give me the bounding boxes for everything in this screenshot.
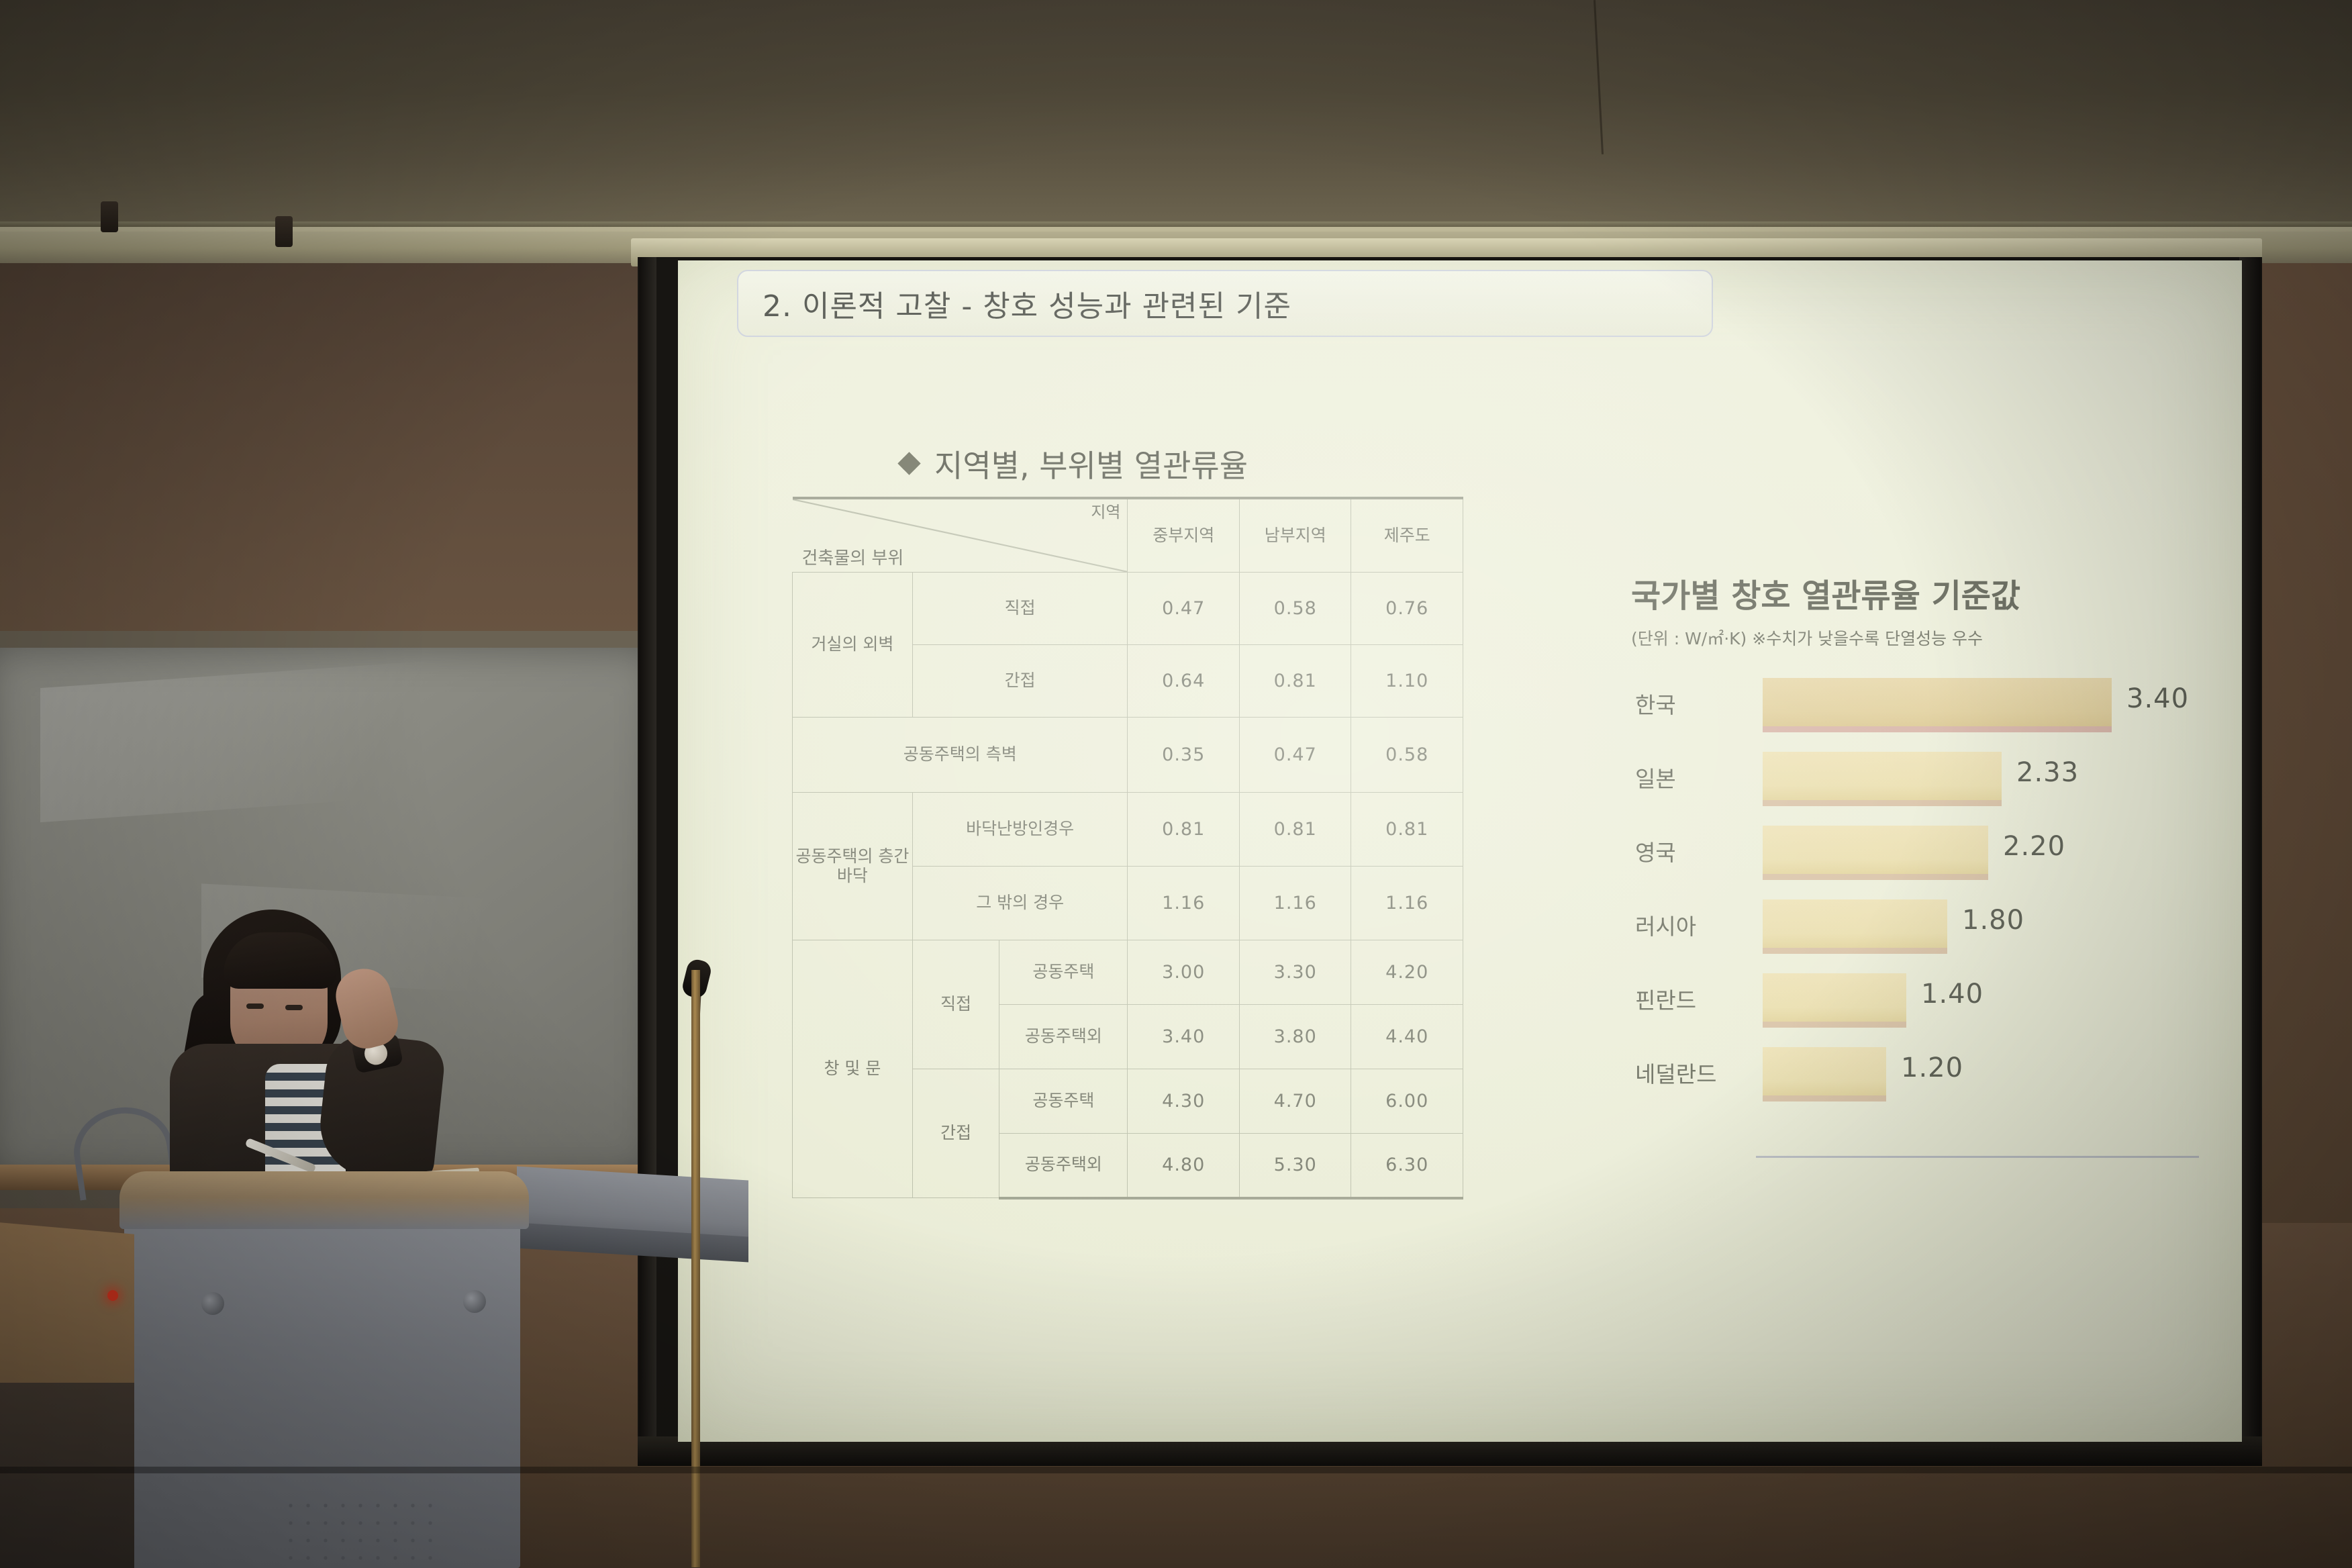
chart-bar-label: 네덜란드 bbox=[1631, 1057, 1763, 1089]
chart-bar-row: 러시아1.80 bbox=[1631, 894, 2208, 956]
row-group-apartment-side-wall: 공동주택의 측벽 bbox=[793, 718, 1128, 793]
cell-value: 1.16 bbox=[1128, 867, 1240, 940]
column-header-jeju: 제주도 bbox=[1351, 498, 1463, 573]
table-row: 공동주택의 층간바닥 바닥난방인경우 0.81 0.81 0.81 bbox=[793, 793, 1463, 867]
column-header-southern: 남부지역 bbox=[1239, 498, 1351, 573]
cell-value: 0.81 bbox=[1239, 645, 1351, 718]
diamond-bullet-icon bbox=[899, 454, 920, 474]
presenter-bangs bbox=[224, 932, 336, 989]
row-sub2-non-apartment: 공동주택외 bbox=[999, 1005, 1128, 1069]
ceiling-lamp-icon bbox=[101, 201, 118, 232]
cell-value: 1.10 bbox=[1351, 645, 1463, 718]
column-header-central: 중부지역 bbox=[1128, 498, 1240, 573]
chart-bar-value: 3.40 bbox=[2126, 683, 2189, 714]
chart-bar-track: 1.20 bbox=[1763, 1042, 2208, 1104]
cell-value: 0.81 bbox=[1351, 793, 1463, 867]
chart-bar-track: 2.33 bbox=[1763, 746, 2208, 808]
row-sub2-apartment: 공동주택 bbox=[999, 1069, 1128, 1134]
floor-shadow-line bbox=[0, 1467, 2352, 1473]
row-sub2-non-apartment: 공동주택외 bbox=[999, 1134, 1128, 1198]
chart-bar-value: 2.33 bbox=[2016, 757, 2079, 788]
chart-bar-track: 1.80 bbox=[1763, 894, 2208, 956]
cell-value: 5.30 bbox=[1239, 1134, 1351, 1198]
podium-speaker-grille bbox=[282, 1497, 443, 1564]
table-row: 공동주택의 측벽 0.35 0.47 0.58 bbox=[793, 718, 1463, 793]
cell-value: 0.47 bbox=[1128, 573, 1240, 645]
cell-value: 0.81 bbox=[1239, 793, 1351, 867]
u-value-table-wrapper: 지역 건축물의 부위 중부지역 남부지역 제주도 거실의 외벽 직접 0.47 … bbox=[792, 497, 1463, 1199]
ceiling-lamp-icon bbox=[275, 216, 293, 247]
chart-title: 국가별 창호 열관류율 기준값 bbox=[1631, 569, 2208, 616]
chart-bar bbox=[1763, 899, 1947, 954]
microphone-stand bbox=[691, 970, 700, 1567]
slide-title-bar: 2. 이론적 고찰 - 창호 성능과 관련된 기준 bbox=[737, 270, 1713, 337]
chart-bar bbox=[1763, 826, 1988, 880]
chart-bar-value: 1.40 bbox=[1921, 979, 1983, 1010]
u-value-table: 지역 건축물의 부위 중부지역 남부지역 제주도 거실의 외벽 직접 0.47 … bbox=[792, 497, 1463, 1199]
cell-value: 0.35 bbox=[1128, 718, 1240, 793]
section-heading: 지역별, 부위별 열관류율 bbox=[899, 442, 1248, 486]
row-sub-direct: 직접 bbox=[912, 573, 1128, 645]
country-u-value-chart: 국가별 창호 열관류율 기준값 (단위 : W/㎡·K) ※수치가 낮을수록 단… bbox=[1631, 569, 2208, 1116]
row-sub-indirect: 간접 bbox=[912, 1069, 999, 1198]
cell-value: 1.16 bbox=[1351, 867, 1463, 940]
cell-value: 6.00 bbox=[1351, 1069, 1463, 1134]
chart-bar bbox=[1763, 1047, 1886, 1101]
cell-value: 4.70 bbox=[1239, 1069, 1351, 1134]
projected-slide: 2. 이론적 고찰 - 창호 성능과 관련된 기준 지역별, 부위별 열관류율 … bbox=[678, 260, 2242, 1442]
chart-bar-track: 1.40 bbox=[1763, 968, 2208, 1030]
chart-bar-label: 영국 bbox=[1631, 835, 1763, 867]
back-wall-upper-shadow bbox=[0, 263, 658, 639]
row-group-windows-doors: 창 및 문 bbox=[793, 940, 913, 1198]
presenter-eye bbox=[285, 1005, 303, 1010]
chart-bar-value: 1.80 bbox=[1962, 905, 2024, 936]
desk-left-shadow bbox=[0, 1383, 134, 1568]
chart-bar-row: 한국3.40 bbox=[1631, 673, 2208, 734]
presenter bbox=[151, 910, 467, 1205]
cell-value: 1.16 bbox=[1239, 867, 1351, 940]
chart-bar-label: 일본 bbox=[1631, 761, 1763, 793]
chart-bar-value: 1.20 bbox=[1901, 1052, 1963, 1083]
row-sub-direct: 직접 bbox=[912, 940, 999, 1069]
power-led-indicator bbox=[107, 1290, 118, 1301]
row-sub-other-case: 그 밖의 경우 bbox=[912, 867, 1128, 940]
row-sub2-apartment: 공동주택 bbox=[999, 940, 1128, 1005]
lecture-hall-photo: 2. 이론적 고찰 - 창호 성능과 관련된 기준 지역별, 부위별 열관류율 … bbox=[0, 0, 2352, 1568]
cell-value: 0.76 bbox=[1351, 573, 1463, 645]
table-corner-label-part: 건축물의 부위 bbox=[802, 549, 904, 569]
cell-value: 0.47 bbox=[1239, 718, 1351, 793]
chart-bar-label: 러시아 bbox=[1631, 909, 1763, 941]
chart-bars: 한국3.40일본2.33영국2.20러시아1.80핀란드1.40네덜란드1.20 bbox=[1631, 673, 2208, 1104]
podium-knob[interactable] bbox=[463, 1290, 486, 1313]
chart-baseline bbox=[1756, 1156, 2199, 1158]
chart-bar-label: 한국 bbox=[1631, 687, 1763, 720]
chart-bar-row: 일본2.33 bbox=[1631, 746, 2208, 808]
chart-bar-track: 3.40 bbox=[1763, 673, 2208, 734]
row-sub-indirect: 간접 bbox=[912, 645, 1128, 718]
table-corner-label-region: 지역 bbox=[1091, 503, 1120, 522]
chart-bar-row: 네덜란드1.20 bbox=[1631, 1042, 2208, 1104]
cell-value: 0.58 bbox=[1239, 573, 1351, 645]
cell-value: 4.30 bbox=[1128, 1069, 1240, 1134]
chart-bar bbox=[1763, 973, 1906, 1028]
table-header-row: 지역 건축물의 부위 중부지역 남부지역 제주도 bbox=[793, 498, 1463, 573]
chart-bar-value: 2.20 bbox=[2003, 831, 2065, 862]
presenter-eye bbox=[246, 1003, 264, 1009]
row-group-apartment-interfloor: 공동주택의 층간바닥 bbox=[793, 793, 913, 940]
chart-bar-row: 영국2.20 bbox=[1631, 820, 2208, 882]
chart-bar-label: 핀란드 bbox=[1631, 983, 1763, 1015]
cell-value: 3.00 bbox=[1128, 940, 1240, 1005]
table-row: 거실의 외벽 직접 0.47 0.58 0.76 bbox=[793, 573, 1463, 645]
table-corner-cell: 지역 건축물의 부위 bbox=[793, 498, 1128, 573]
table-row: 창 및 문 직접 공동주택 3.00 3.30 4.20 bbox=[793, 940, 1463, 1005]
ceiling bbox=[0, 0, 2352, 232]
right-wall bbox=[2261, 263, 2352, 1223]
cell-value: 3.40 bbox=[1128, 1005, 1240, 1069]
chart-bar bbox=[1763, 752, 2002, 806]
cell-value: 0.64 bbox=[1128, 645, 1240, 718]
cell-value: 3.30 bbox=[1239, 940, 1351, 1005]
chart-bar-row: 핀란드1.40 bbox=[1631, 968, 2208, 1030]
podium-top bbox=[119, 1171, 529, 1229]
cell-value: 3.80 bbox=[1239, 1005, 1351, 1069]
cell-value: 6.30 bbox=[1351, 1134, 1463, 1198]
podium-knob[interactable] bbox=[201, 1292, 224, 1315]
cell-value: 4.80 bbox=[1128, 1134, 1240, 1198]
cell-value: 0.81 bbox=[1128, 793, 1240, 867]
screen-right-edge bbox=[2239, 257, 2261, 1459]
cell-value: 4.40 bbox=[1351, 1005, 1463, 1069]
cell-value: 0.58 bbox=[1351, 718, 1463, 793]
cell-value: 4.20 bbox=[1351, 940, 1463, 1005]
slide-title: 2. 이론적 고찰 - 창호 성능과 관련된 기준 bbox=[738, 282, 1291, 325]
chart-subtitle: (단위 : W/㎡·K) ※수치가 낮을수록 단열성능 우수 bbox=[1631, 626, 2208, 650]
chart-bar bbox=[1763, 678, 2112, 732]
section-heading-label: 지역별, 부위별 열관류율 bbox=[934, 442, 1248, 486]
row-sub-floor-heating: 바닥난방인경우 bbox=[912, 793, 1128, 867]
screen-left-edge bbox=[639, 257, 656, 1465]
row-group-living-exterior-wall: 거실의 외벽 bbox=[793, 573, 913, 718]
chart-bar-track: 2.20 bbox=[1763, 820, 2208, 882]
